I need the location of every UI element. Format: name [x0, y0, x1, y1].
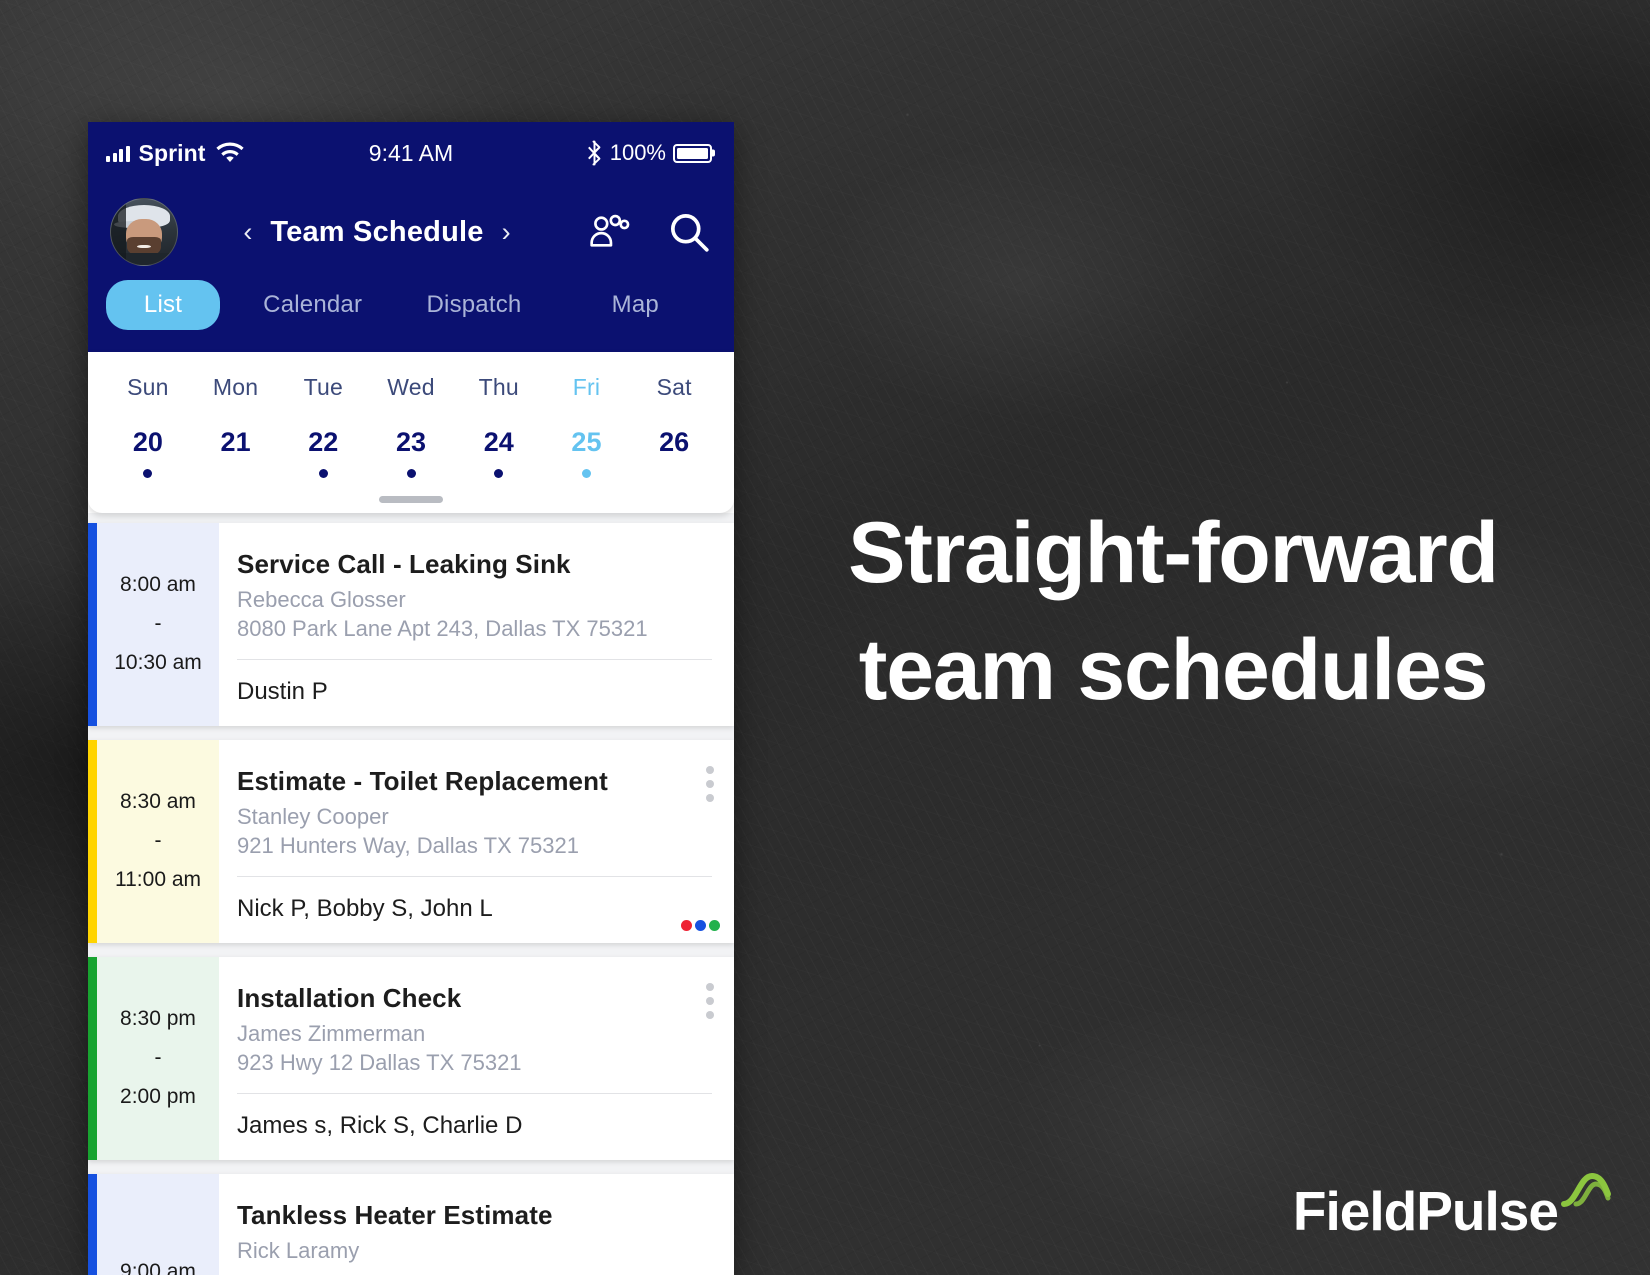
week-event-dot: [319, 469, 328, 478]
week-event-dot: [582, 469, 591, 478]
appointment-card[interactable]: 8:30 pm - 2:00 pm Installation Check Jam…: [88, 957, 734, 1160]
status-dot-blue: [695, 920, 706, 931]
tab-dispatch[interactable]: Dispatch: [393, 280, 554, 330]
week-dow-label: Sun: [104, 374, 192, 401]
card-time-dash: -: [155, 822, 162, 861]
card-accent-bar: [88, 957, 97, 1160]
status-bar-left: Sprint: [106, 140, 245, 167]
more-options-icon[interactable]: [702, 762, 718, 806]
page-title: Team Schedule: [270, 216, 483, 249]
card-body: Tankless Heater Estimate Rick Laramy: [219, 1174, 734, 1275]
app-title-bar: ‹ Team Schedule ›: [88, 184, 734, 280]
card-start-time: 9:00 am: [120, 1253, 196, 1275]
week-days-row: Sun 20 Mon 21 Tue 22 Wed 23 Thu 24: [88, 374, 734, 478]
week-date-label: 23: [367, 427, 455, 458]
card-customer: Rick Laramy: [237, 1238, 712, 1264]
chevron-left-icon[interactable]: ‹: [243, 219, 252, 246]
battery-percent-label: 100%: [610, 140, 666, 166]
card-time-block: 8:00 am - 10:30 am: [97, 523, 219, 726]
card-start-time: 8:30 pm: [120, 1000, 196, 1039]
tab-list[interactable]: List: [106, 280, 220, 330]
headline-line-1: Straight-forward: [778, 495, 1568, 612]
battery-full-icon: [673, 144, 712, 163]
card-accent-bar: [88, 740, 97, 943]
card-start-time: 8:30 am: [120, 783, 196, 822]
week-strip: Sun 20 Mon 21 Tue 22 Wed 23 Thu 24: [88, 352, 734, 513]
week-day-wed[interactable]: Wed 23: [367, 374, 455, 478]
appointment-list: 8:00 am - 10:30 am Service Call - Leakin…: [88, 513, 734, 1275]
card-end-time: 11:00 am: [115, 861, 201, 900]
logo-wordmark: FieldPulse: [1293, 1184, 1558, 1239]
week-event-dot: [143, 469, 152, 478]
team-people-icon[interactable]: [588, 211, 630, 253]
week-date-label: 25: [543, 427, 631, 458]
title-actions: [588, 211, 710, 253]
card-customer: James Zimmerman: [237, 1021, 712, 1047]
card-body: Installation Check James Zimmerman 923 H…: [219, 957, 734, 1160]
card-customer: Rebecca Glosser: [237, 587, 712, 613]
card-time-block: 8:30 pm - 2:00 pm: [97, 957, 219, 1160]
week-dow-label: Fri: [543, 374, 631, 401]
tab-map[interactable]: Map: [555, 280, 716, 330]
card-time-block: 8:30 am - 11:00 am: [97, 740, 219, 943]
week-dow-label: Thu: [455, 374, 543, 401]
week-dow-label: Sat: [630, 374, 718, 401]
card-time-dash: -: [155, 605, 162, 644]
card-address: 921 Hunters Way, Dallas TX 75321: [237, 833, 712, 877]
appointment-card[interactable]: 8:00 am - 10:30 am Service Call - Leakin…: [88, 523, 734, 726]
week-day-sat[interactable]: Sat 26: [630, 374, 718, 478]
week-dow-label: Wed: [367, 374, 455, 401]
card-assignees: James s, Rick S, Charlie D: [237, 1094, 712, 1140]
week-day-sun[interactable]: Sun 20: [104, 374, 192, 478]
user-avatar[interactable]: [110, 198, 178, 266]
card-time-dash: -: [155, 1039, 162, 1078]
card-body: Estimate - Toilet Replacement Stanley Co…: [219, 740, 734, 943]
status-dots: [681, 920, 720, 931]
week-dow-label: Mon: [192, 374, 280, 401]
week-dow-label: Tue: [279, 374, 367, 401]
carrier-label: Sprint: [139, 140, 206, 167]
card-assignees: Nick P, Bobby S, John L: [237, 877, 712, 923]
status-dot-green: [709, 920, 720, 931]
card-assignees: Dustin P: [237, 660, 712, 706]
fieldpulse-logo: FieldPulse: [1293, 1184, 1612, 1239]
week-date-label: 21: [192, 427, 280, 458]
more-options-icon[interactable]: [702, 979, 718, 1023]
week-day-thu[interactable]: Thu 24: [455, 374, 543, 478]
appointment-card[interactable]: 9:00 am Tankless Heater Estimate Rick La…: [88, 1174, 734, 1275]
bluetooth-icon: [586, 140, 603, 166]
card-end-time: 2:00 pm: [120, 1078, 196, 1117]
card-title: Installation Check: [237, 983, 712, 1014]
week-event-dot: [670, 469, 679, 478]
week-day-fri[interactable]: Fri 25: [543, 374, 631, 478]
app-header-block: Sprint 9:41 AM 100%: [88, 122, 734, 352]
card-title: Estimate - Toilet Replacement: [237, 766, 712, 797]
card-customer: Stanley Cooper: [237, 804, 712, 830]
week-day-mon[interactable]: Mon 21: [192, 374, 280, 478]
week-date-label: 24: [455, 427, 543, 458]
card-start-time: 8:00 am: [120, 566, 196, 605]
status-dot-red: [681, 920, 692, 931]
card-end-time: 10:30 am: [114, 644, 202, 683]
pulse-wave-icon: [1560, 1170, 1612, 1210]
week-day-tue[interactable]: Tue 22: [279, 374, 367, 478]
signal-bars-icon: [106, 145, 130, 162]
card-title: Tankless Heater Estimate: [237, 1200, 712, 1231]
week-date-label: 20: [104, 427, 192, 458]
card-body: Service Call - Leaking Sink Rebecca Glos…: [219, 523, 734, 726]
phone-mockup: Sprint 9:41 AM 100%: [88, 122, 734, 1275]
wifi-icon: [215, 140, 245, 166]
headline-line-2: team schedules: [778, 612, 1568, 729]
appointment-card[interactable]: 8:30 am - 11:00 am Estimate - Toilet Rep…: [88, 740, 734, 943]
week-event-dot: [231, 469, 240, 478]
week-date-label: 22: [279, 427, 367, 458]
card-time-block: 9:00 am: [97, 1174, 219, 1275]
week-event-dot: [407, 469, 416, 478]
status-bar: Sprint 9:41 AM 100%: [88, 122, 734, 184]
marketing-headline: Straight-forward team schedules: [778, 495, 1568, 729]
chevron-right-icon[interactable]: ›: [502, 219, 511, 246]
drag-handle[interactable]: [379, 496, 443, 503]
title-center: ‹ Team Schedule ›: [172, 216, 582, 249]
card-title: Service Call - Leaking Sink: [237, 549, 712, 580]
card-accent-bar: [88, 523, 97, 726]
card-address: 8080 Park Lane Apt 243, Dallas TX 75321: [237, 616, 712, 660]
card-address: 923 Hwy 12 Dallas TX 75321: [237, 1050, 712, 1094]
week-date-label: 26: [630, 427, 718, 458]
view-tabs: List Calendar Dispatch Map: [88, 280, 734, 352]
status-bar-right: 100%: [586, 140, 712, 166]
week-event-dot: [494, 469, 503, 478]
search-icon[interactable]: [668, 211, 710, 253]
tab-calendar[interactable]: Calendar: [232, 280, 393, 330]
card-accent-bar: [88, 1174, 97, 1275]
